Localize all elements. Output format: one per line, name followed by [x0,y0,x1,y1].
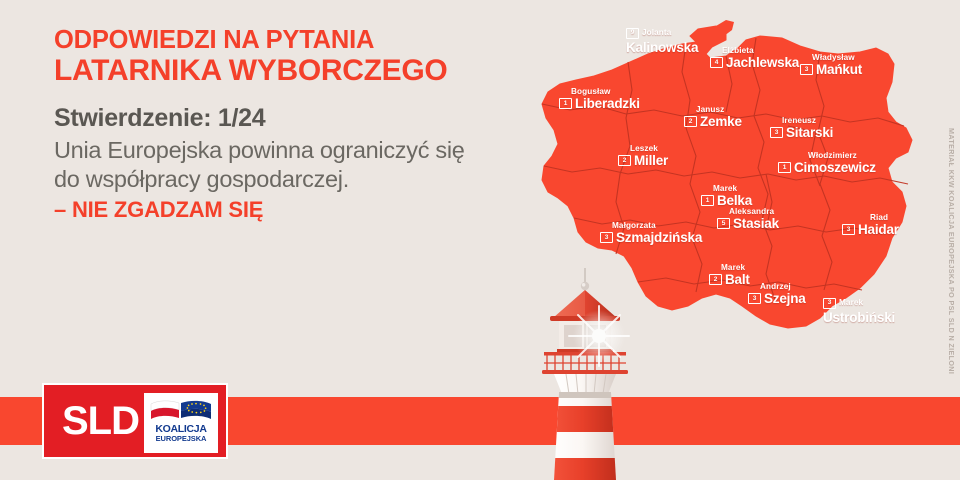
statement-text: Unia Europejska powinna ograniczyć się d… [54,136,494,194]
candidate-last-name: Mańkut [816,63,862,77]
candidate-number: 3 [823,298,836,309]
map-label-liberadzki[interactable]: Bogusław 1 Liberadzki [559,88,640,111]
candidate-first-name: Marek [713,185,752,193]
funding-disclaimer: MATERIAŁ KKW KOALICJA EUROPEJSKA PO PSL … [947,128,956,374]
candidate-last-name: Kalinowska [626,40,698,55]
map-label-belka[interactable]: Marek 1 Belka [701,185,752,208]
candidate-last-name: Stasiak [733,217,779,231]
candidate-first-name: Aleksandra [729,208,779,216]
candidate-last-name: Liberadzki [575,97,640,111]
candidate-first-name: Małgorzata [612,222,702,230]
sld-logo[interactable]: SLD KOALICJA EUROPEJSKA [42,383,228,459]
map-label-ustrobinski[interactable]: 3 Marek Ustrobiński [823,298,895,325]
headline: ODPOWIEDZI NA PYTANIA LATARNIKA WYBORCZE… [54,27,484,88]
candidate-first-name: Włodzimierz [808,152,876,160]
candidate-last-name: Haidar [858,223,899,237]
candidate-last-name: Szejna [764,292,806,306]
map-label-haidar[interactable]: Riad 3 Haidar [842,214,899,237]
candidate-number: 3 [600,232,613,243]
gallery-corbel [554,374,616,394]
map-label-mankut[interactable]: Władysław 3 Mańkut [800,54,862,77]
candidate-last-name: Balt [725,273,750,287]
candidate-first-name: Elżbieta [722,47,799,55]
candidate-number: 2 [618,155,631,166]
map-label-szejna[interactable]: Andrzej 3 Szejna [748,283,806,306]
statement-counter: Stwierdzenie: 1/24 [54,104,494,134]
candidate-number: 3 [770,127,783,138]
candidate-last-name: Sitarski [786,126,833,140]
candidate-last-name: Cimoszewicz [794,161,876,175]
map-label-sitarski[interactable]: Ireneusz 3 Sitarski [770,117,833,140]
candidate-last-name: Miller [634,154,668,168]
candidate-last-name: Zemke [700,115,742,129]
lighthouse-illustration [524,266,646,480]
candidate-number: 9 [626,28,639,39]
map-label-szmajdzinska[interactable]: Małgorzata 3 Szmajdzińska [600,222,702,245]
candidate-number: 5 [717,218,730,229]
map-label-stasiak[interactable]: Aleksandra 5 Stasiak [717,208,779,231]
candidate-last-name: Jachlewska [726,56,799,70]
candidate-number: 3 [748,293,761,304]
candidate-first-name: Andrzej [760,283,806,291]
candidate-number: 1 [778,162,791,173]
headline-line-2: LATARNIKA WYBORCZEGO [54,54,484,88]
candidate-number: 3 [800,64,813,75]
map-label-miller[interactable]: Leszek 2 Miller [618,145,668,168]
lighthouse-finial [581,268,589,290]
candidate-first-name: Marek [721,264,750,272]
candidate-number: 4 [710,57,723,68]
candidate-number: 1 [559,98,572,109]
candidate-first-name: Riad [870,214,899,222]
map-label-jachlewska[interactable]: Elżbieta 4 Jachlewska [710,47,799,70]
candidate-number: 3 [842,224,855,235]
candidate-first-name: Władysław [812,54,862,62]
poster-canvas: 9 Jolanta Kalinowska Elżbieta 4 Jachlews… [0,0,960,480]
candidate-number: 2 [684,116,697,127]
candidate-first-name: Marek [839,299,863,307]
headline-line-1: ODPOWIEDZI NA PYTANIA [54,27,484,54]
koalicja-europejska-badge: KOALICJA EUROPEJSKA [144,393,218,453]
candidate-number: 2 [709,274,722,285]
lighthouse-tower [548,392,624,480]
flags-icon [150,399,212,421]
statement-block: Stwierdzenie: 1/24 Unia Europejska powin… [54,104,494,223]
candidate-first-name: Jolanta [642,29,671,37]
candidate-first-name: Leszek [630,145,668,153]
candidate-first-name: Janusz [696,106,742,114]
light-beam-icon [569,306,629,366]
statement-answer: – NIE ZGADZAM SIĘ [54,197,494,223]
map-label-balt[interactable]: Marek 2 Balt [709,264,750,287]
candidate-first-name: Bogusław [571,88,640,96]
candidate-number: 1 [701,195,714,206]
candidate-last-name: Belka [717,194,752,208]
candidate-last-name: Ustrobiński [823,310,895,325]
sld-wordmark: SLD [62,401,139,441]
coalition-line-2: EUROPEJSKA [156,435,207,443]
candidate-first-name: Ireneusz [782,117,833,125]
candidate-last-name: Szmajdzińska [616,231,702,245]
map-label-kalinowska[interactable]: 9 Jolanta Kalinowska [626,28,698,55]
map-label-zemke[interactable]: Janusz 2 Zemke [684,106,742,129]
map-label-cimoszewicz[interactable]: Włodzimierz 1 Cimoszewicz [778,152,876,175]
